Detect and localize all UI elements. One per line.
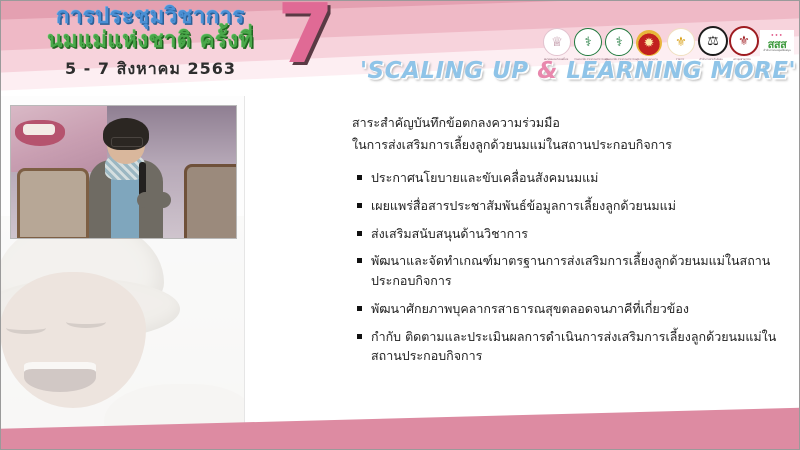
labour-ministry-logo: ✹ [636, 30, 662, 56]
federation-industries-logo-caption: สภาอุตสาหกรรม [729, 58, 755, 62]
health-department-logo: ⚕ [605, 28, 633, 56]
ministry-public-health-logo-wrap: ⚕กรมอนามัย กระทรวงสาธารณสุข [574, 28, 600, 56]
content-heading: สาระสำคัญบันทึกข้อตกลงความร่วมมือ ในการส… [352, 112, 782, 155]
agreement-bullet-item: พัฒนาศักยภาพบุคลากรสาธารณสุขตลอดจนภาคีที… [356, 299, 780, 319]
health-department-logo-caption: กรมอนามัย กระทรวงสาธารณสุข [605, 58, 631, 62]
labour-ministry-logo-caption: กระทรวงแรงงาน [636, 58, 662, 62]
speaker-glasses [111, 137, 143, 147]
agreement-bullet-list: ประกาศนโยบายและขับเคลื่อนสังคมนมแม่เผยแพ… [356, 168, 780, 374]
ministry-public-health-logo-caption: กรมอนามัย กระทรวงสาธารณสุข [574, 58, 600, 62]
thaihealth-logo-wrap: •••สสสสำนักงานกองทุนสนับสนุน [760, 30, 794, 56]
garuda-emblem-logo-wrap: ⚜ราชการ [667, 28, 693, 56]
agreement-bullet-item: กำกับ ติดตามและประเมินผลการดำเนินการส่งเ… [356, 327, 780, 367]
stage-chair-left [17, 168, 89, 239]
ministry-public-health-logo: ⚕ [574, 28, 602, 56]
thaihealth-caption: สำนักงานกองทุนสนับสนุน [763, 50, 790, 53]
speaker-arm [137, 192, 171, 208]
agreement-bullet-item: ส่งเสริมสนับสนุนด้านวิชาการ [356, 224, 780, 244]
poster-teeth [23, 124, 55, 135]
royal-patronage-logo-wrap: ♕สมาคมแห่งประเทศไทย [543, 28, 569, 56]
child-eye-right [66, 316, 106, 328]
child-smile [24, 362, 96, 392]
health-department-logo-wrap: ⚕กรมอนามัย กระทรวงสาธารณสุข [605, 28, 631, 56]
content-panel: สาระสำคัญบันทึกข้อตกลงความร่วมมือ ในการส… [244, 96, 800, 450]
social-security-logo-caption: สำนักงานประกันสังคม [698, 58, 724, 62]
edition-number: 7 [277, 0, 332, 76]
thaihealth-logo: •••สสสสำนักงานกองทุนสนับสนุน [760, 30, 794, 56]
social-security-logo: ⚖ [698, 26, 728, 56]
content-heading-line1: สาระสำคัญบันทึกข้อตกลงความร่วมมือ [352, 112, 782, 134]
slide-header: การประชุมวิชาการ นมแม่แห่งชาติ ครั้งที่ … [0, 0, 800, 96]
panel-divider [244, 96, 245, 450]
federation-industries-logo: ⚜ [729, 26, 759, 56]
royal-patronage-logo-caption: สมาคมแห่งประเทศไทย [543, 58, 569, 62]
conference-title-block: การประชุมวิชาการ นมแม่แห่งชาติ ครั้งที่ … [18, 4, 283, 82]
content-heading-line2: ในการส่งเสริมการเลี้ยงลูกด้วยนมแม่ในสถาน… [352, 134, 782, 156]
garuda-emblem-logo-caption: ราชการ [667, 58, 693, 62]
royal-patronage-logo: ♕ [543, 28, 571, 56]
labour-ministry-logo-wrap: ✹กระทรวงแรงงาน [636, 30, 662, 56]
conference-title-line1: การประชุมวิชาการ [18, 4, 283, 29]
microphone-icon [139, 162, 146, 196]
slogan-prefix: 'SCALING UP [360, 58, 537, 84]
smiling-child-background-photo [0, 216, 244, 450]
agreement-bullet-item: พัฒนาและจัดทำเกณฑ์มาตรฐานการส่งเสริมการเ… [356, 251, 780, 291]
speaker-inner-shirt [111, 170, 139, 239]
conference-date: 5 - 7 สิงหาคม 2563 [18, 57, 283, 82]
agreement-bullet-item: ประกาศนโยบายและขับเคลื่อนสังคมนมแม่ [356, 168, 780, 188]
social-security-logo-wrap: ⚖สำนักงานประกันสังคม [698, 26, 724, 56]
presentation-slide: การประชุมวิชาการ นมแม่แห่งชาติ ครั้งที่ … [0, 0, 800, 450]
media-column [0, 96, 244, 450]
conference-title-line2: นมแม่แห่งชาติ ครั้งที่ [18, 28, 283, 53]
agreement-bullet-item: เผยแพร่สื่อสารประชาสัมพันธ์ข้อมูลการเลี้… [356, 196, 780, 216]
federation-industries-logo-wrap: ⚜สภาอุตสาหกรรม [729, 26, 755, 56]
garuda-emblem-logo: ⚜ [667, 28, 695, 56]
child-eye-left [6, 322, 46, 334]
speaker-presentation-photo [10, 105, 237, 239]
partner-logo-row: ♕สมาคมแห่งประเทศไทย⚕กรมอนามัย กระทรวงสาธ… [543, 22, 794, 56]
stage-chair-right [184, 164, 237, 239]
